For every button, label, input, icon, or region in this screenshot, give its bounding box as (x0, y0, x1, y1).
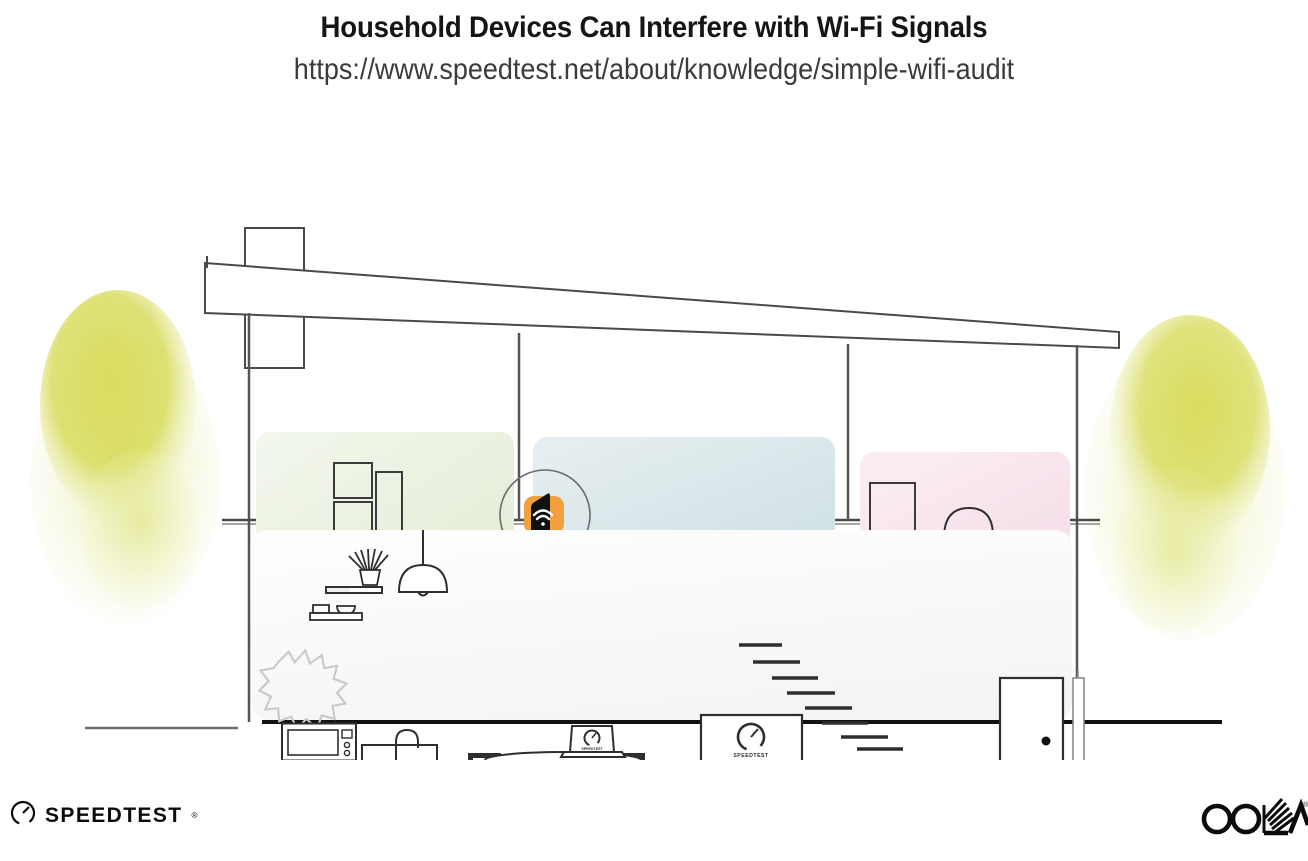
tv: SPEEDTEST (701, 715, 802, 760)
page-title: Household Devices Can Interfere with Wi-… (52, 8, 1255, 47)
foliage-left (30, 290, 220, 625)
microwave-body (282, 724, 356, 761)
ookla-trademark: ® (1303, 801, 1308, 809)
header: Household Devices Can Interfere with Wi-… (0, 0, 1308, 89)
foliage-right (1085, 315, 1285, 640)
speedtest-gauge-icon (10, 800, 36, 831)
source-url: https://www.speedtest.net/about/knowledg… (65, 51, 1242, 89)
speedtest-trademark: ® (191, 811, 197, 820)
door-knob (1042, 737, 1051, 746)
laptop-screen-label: SPEEDTEST (581, 747, 603, 751)
ookla-logo: ® (1196, 795, 1308, 846)
tv-screen-label-lower: SPEEDTEST (733, 753, 769, 759)
roof (205, 256, 1119, 348)
side-window (1073, 670, 1084, 760)
wifi-router-icon (524, 493, 564, 534)
room-ground-floor: SPEEDTEST SPEEDTEST (252, 530, 1084, 760)
speedtest-wordmark: SPEEDTEST (45, 804, 182, 828)
house-cutaway-illustration: SPEEDTEST (0, 100, 1308, 760)
infographic-page: Household Devices Can Interfere with Wi-… (0, 0, 1308, 861)
speedtest-logo: SPEEDTEST ® (10, 800, 197, 831)
laptop: SPEEDTEST (561, 726, 625, 757)
